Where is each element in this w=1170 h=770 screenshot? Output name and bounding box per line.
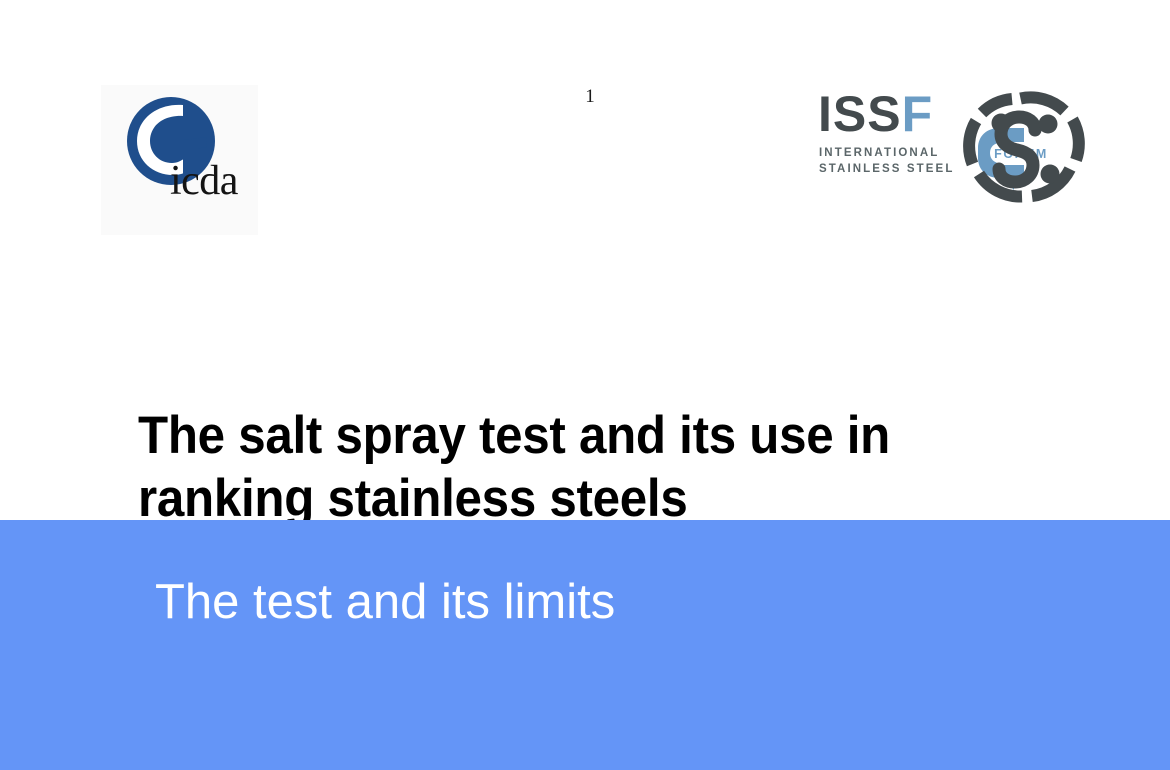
issf-logo: ISSF INTERNATIONAL STAINLESS STEEL FORUM (818, 84, 1105, 212)
section-banner-text: The test and its limits (155, 572, 615, 632)
issf-subtitle-line-2: STAINLESS STEEL (819, 161, 954, 177)
page-title: The salt spray test and its use in ranki… (138, 404, 975, 530)
issf-emblem-dot-bottom-right (1041, 165, 1060, 184)
issf-acronym: ISSF (818, 88, 933, 140)
icda-logo: icda (101, 85, 258, 235)
issf-forum-emblem-icon: FORUM (938, 84, 1105, 212)
icda-wordmark: icda (170, 160, 238, 202)
slide-canvas: icda 1 ISSF INTERNATIONAL STAINLESS STEE… (0, 0, 1170, 770)
issf-subtitle: INTERNATIONAL STAINLESS STEEL (819, 145, 954, 177)
issf-emblem-dot-top-right (1039, 115, 1058, 134)
page-number: 1 (575, 86, 605, 108)
issf-subtitle-line-1: INTERNATIONAL (819, 145, 954, 161)
section-banner (0, 520, 1170, 770)
issf-emblem-dot-top-left (992, 114, 1011, 133)
issf-acronym-accent: F (902, 86, 934, 142)
issf-acronym-dark: ISS (818, 86, 902, 142)
